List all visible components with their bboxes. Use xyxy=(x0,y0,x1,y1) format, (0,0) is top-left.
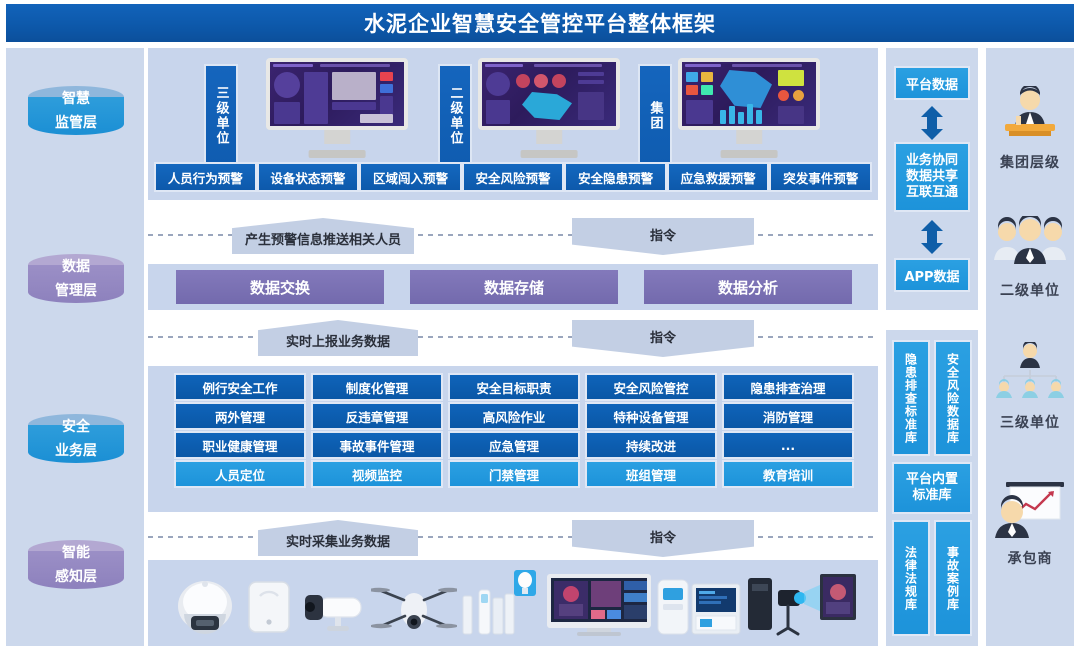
alert-button[interactable]: 安全风险预警 xyxy=(464,164,563,190)
dashboard-screen xyxy=(478,58,620,130)
flow-label-command-mid: 指令 xyxy=(572,320,754,357)
monitor-foot xyxy=(521,150,578,158)
persona-label: 二级单位 xyxy=(986,280,1074,300)
business-module-cell[interactable]: 人员定位 xyxy=(176,462,304,486)
unit-label-tier3: 三级单位 xyxy=(206,66,236,166)
persona-label: 承包商 xyxy=(986,548,1074,568)
right-standard-library-column: 隐患排查标准库 安全风险数据库 平台内置 标准库 法律法规库 事故案例库 xyxy=(886,330,978,646)
layer-sub: 感知层 xyxy=(28,566,124,586)
layer-sub: 业务层 xyxy=(28,440,124,460)
podium-speaker-icon xyxy=(995,86,1065,144)
business-module-cell[interactable]: 视频监控 xyxy=(313,462,441,486)
unit-label-group: 集团 xyxy=(640,66,670,166)
monitor-tier2 xyxy=(478,58,620,158)
app-data-box: APP数据 xyxy=(896,260,968,290)
library-risk-database: 安全风险数据库 xyxy=(936,342,970,454)
business-module-cell[interactable]: 门禁管理 xyxy=(450,462,578,486)
page-title: 水泥企业智慧安全管控平台整体框架 xyxy=(364,8,716,38)
monitor-group xyxy=(678,58,820,158)
alert-button-bar: 人员行为预警设备状态预警区域闯入预警安全风险预警安全隐患预警应急救援预警突发事件… xyxy=(156,164,870,190)
layer-name: 安全 xyxy=(28,416,124,436)
alert-button[interactable]: 设备状态预警 xyxy=(259,164,358,190)
alert-button[interactable]: 应急救援预警 xyxy=(669,164,768,190)
flow-label-report-realtime: 实时上报业务数据 xyxy=(258,320,418,356)
hub-line-3: 互联互通 xyxy=(906,185,958,201)
layer-sub: 管理层 xyxy=(28,280,124,300)
flow-label-command-bottom: 指令 xyxy=(572,520,754,557)
flow-row-data-to-business: 实时上报业务数据 指令 xyxy=(148,320,878,354)
business-module-cell[interactable]: 两外管理 xyxy=(176,404,304,428)
people-group-icon xyxy=(991,216,1069,272)
dashboard-screen xyxy=(678,58,820,130)
layer-badge-data: 数据 管理层 xyxy=(28,254,124,308)
layer-sub: 监管层 xyxy=(28,112,124,132)
alert-button[interactable]: 安全隐患预警 xyxy=(566,164,665,190)
alert-button[interactable]: 突发事件预警 xyxy=(771,164,870,190)
business-module-cell[interactable]: 例行安全工作 xyxy=(176,375,304,399)
unit-label-tier2: 二级单位 xyxy=(440,66,470,166)
business-module-cell[interactable]: 安全目标职责 xyxy=(450,375,578,399)
layer-name: 数据 xyxy=(28,256,124,276)
flow-label-collect-realtime: 实时采集业务数据 xyxy=(258,520,418,556)
business-module-cell[interactable]: 教育培训 xyxy=(724,462,852,486)
page-title-bar: 水泥企业智慧安全管控平台整体框架 xyxy=(6,4,1074,42)
smart-helmet-icon xyxy=(172,576,238,638)
org-chart-icon xyxy=(990,342,1070,404)
business-module-cell[interactable]: 持续改进 xyxy=(587,433,715,457)
device-row xyxy=(172,568,856,638)
projector-terminal-icon xyxy=(746,568,856,638)
supervision-layer-band: 三级单位 二级单位 集团 xyxy=(148,48,878,200)
persona-label: 集团层级 xyxy=(986,152,1074,172)
business-module-cell[interactable]: 安全风险管控 xyxy=(587,375,715,399)
persona-contractor: 承包商 xyxy=(986,478,1074,568)
flow-row-business-to-sensing: 实时采集业务数据 指令 xyxy=(148,520,878,554)
right-data-exchange-column: 平台数据 业务协同 数据共享 互联互通 APP数据 xyxy=(886,48,978,310)
hub-line-1: 业务协同 xyxy=(906,153,958,169)
alert-button[interactable]: 人员行为预警 xyxy=(156,164,255,190)
layer-badge-business: 安全 业务层 xyxy=(28,414,124,468)
layer-name: 智能 xyxy=(28,542,124,562)
framework-diagram: 水泥企业智慧安全管控平台整体框架 智慧 监管层 数据 管理层 安全 业务层 智能… xyxy=(0,0,1080,650)
persona-tier3: 三级单位 xyxy=(986,342,1074,432)
business-module-cell[interactable]: 制度化管理 xyxy=(313,375,441,399)
monitor-neck xyxy=(324,130,350,144)
business-module-cell[interactable]: 高风险作业 xyxy=(450,404,578,428)
builtin-line-2: 标准库 xyxy=(912,488,951,504)
persona-column: 集团层级 二级单位 xyxy=(986,48,1074,646)
monitor-neck xyxy=(736,130,762,144)
monitor-neck xyxy=(536,130,562,144)
data-layer-band: 数据交换 数据存储 数据分析 xyxy=(148,264,878,310)
bidirectional-arrow-icon xyxy=(919,106,945,140)
smart-display-icon xyxy=(545,572,653,638)
business-module-cell[interactable]: 特种设备管理 xyxy=(587,404,715,428)
business-module-cell[interactable]: 应急管理 xyxy=(450,433,578,457)
collaboration-hub-box: 业务协同 数据共享 互联互通 xyxy=(896,144,968,210)
bullet-camera-icon xyxy=(299,576,369,638)
business-layer-band: 例行安全工作制度化管理安全目标职责安全风险管控隐患排查治理两外管理反违章管理高风… xyxy=(148,366,878,512)
flow-dotted-line xyxy=(148,536,878,538)
data-box-storage: 数据存储 xyxy=(410,270,618,304)
flow-label-alert-push: 产生预警信息推送相关人员 xyxy=(232,218,414,254)
alert-button[interactable]: 区域闯入预警 xyxy=(361,164,460,190)
layer-badge-supervision: 智慧 监管层 xyxy=(28,86,124,140)
business-module-cell[interactable]: 消防管理 xyxy=(724,404,852,428)
business-module-cell[interactable]: 隐患排查治理 xyxy=(724,375,852,399)
library-laws-regulations: 法律法规库 xyxy=(894,522,928,634)
control-cabinet-icon xyxy=(654,574,744,638)
layer-badge-sensing: 智能 感知层 xyxy=(28,540,124,594)
layer-name: 智慧 xyxy=(28,88,124,108)
library-hazard-standard: 隐患排查标准库 xyxy=(894,342,928,454)
library-accident-cases: 事故案例库 xyxy=(936,522,970,634)
flow-dotted-line xyxy=(148,336,878,338)
monitor-foot xyxy=(721,150,778,158)
data-box-analysis: 数据分析 xyxy=(644,270,852,304)
business-module-cell[interactable]: 事故事件管理 xyxy=(313,433,441,457)
dashboard-screen xyxy=(266,58,408,130)
layer-legend-column: 智慧 监管层 数据 管理层 安全 业务层 智能 感知层 xyxy=(6,48,144,646)
business-module-cell[interactable]: 职业健康管理 xyxy=(176,433,304,457)
monitor-tier3 xyxy=(266,58,408,158)
access-gate-icon xyxy=(459,568,543,638)
business-module-grid: 例行安全工作制度化管理安全目标职责安全风险管控隐患排查治理两外管理反违章管理高风… xyxy=(176,375,852,486)
monitor-foot xyxy=(309,150,366,158)
business-module-cell[interactable]: 反违章管理 xyxy=(313,404,441,428)
persona-tier2: 二级单位 xyxy=(986,216,1074,300)
presenter-chart-icon xyxy=(990,478,1070,540)
data-box-exchange: 数据交换 xyxy=(176,270,384,304)
drone-icon xyxy=(371,576,457,638)
business-module-cell[interactable]: 班组管理 xyxy=(587,462,715,486)
bidirectional-arrow-icon xyxy=(919,220,945,254)
flow-label-command-top: 指令 xyxy=(572,218,754,255)
persona-group-level: 集团层级 xyxy=(986,86,1074,172)
platform-data-box: 平台数据 xyxy=(896,68,968,98)
sensing-layer-band xyxy=(148,560,878,646)
business-module-cell[interactable]: ... xyxy=(724,433,852,457)
hub-line-2: 数据共享 xyxy=(906,169,958,185)
persona-label: 三级单位 xyxy=(986,412,1074,432)
wireless-access-point-icon xyxy=(240,576,298,638)
platform-builtin-standard-box: 平台内置 标准库 xyxy=(894,464,970,512)
flow-row-supervision-to-data: 产生预警信息推送相关人员 指令 xyxy=(148,218,878,252)
builtin-line-1: 平台内置 xyxy=(906,472,958,488)
